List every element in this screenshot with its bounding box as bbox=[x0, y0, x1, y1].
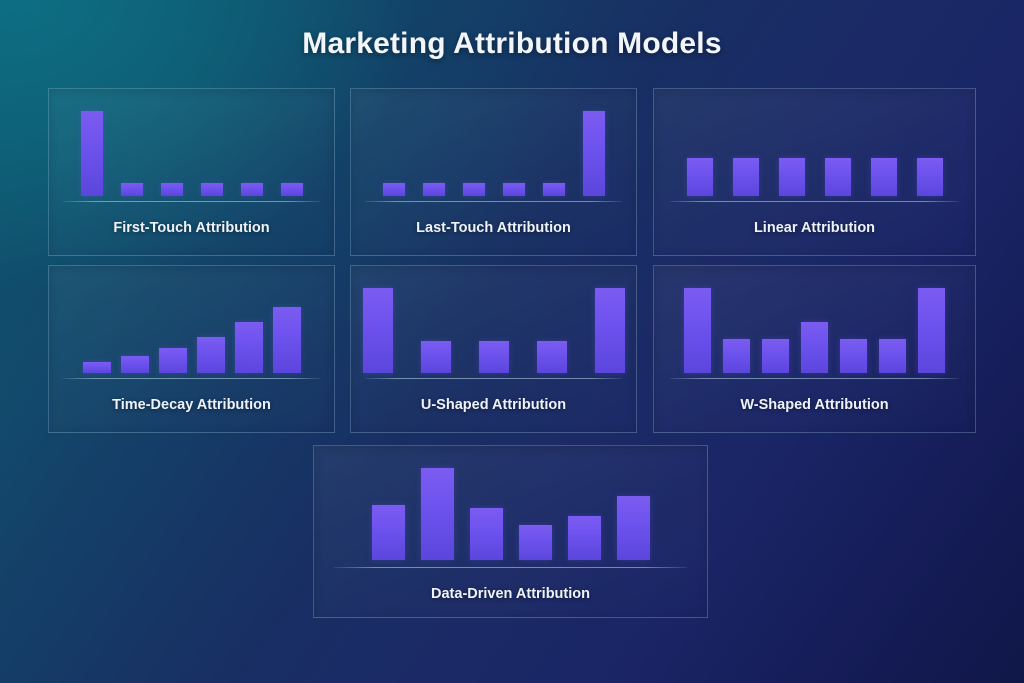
chart-bar bbox=[241, 183, 263, 196]
attribution-card-label: First-Touch Attribution bbox=[49, 220, 334, 236]
chart-baseline bbox=[670, 201, 959, 202]
bar-chart-plot bbox=[49, 288, 334, 373]
chart-baseline bbox=[670, 378, 959, 379]
chart-bar bbox=[235, 322, 263, 373]
chart-bar bbox=[383, 183, 405, 196]
chart-bar bbox=[479, 341, 509, 373]
chart-bar bbox=[197, 337, 225, 373]
bar-chart-plot bbox=[654, 111, 975, 196]
attribution-card[interactable]: First-Touch Attribution bbox=[48, 88, 335, 256]
chart-baseline bbox=[334, 567, 687, 568]
chart-bar bbox=[121, 183, 143, 196]
chart-bar bbox=[281, 183, 303, 196]
chart-bar bbox=[801, 322, 828, 373]
attribution-card[interactable]: Time-Decay Attribution bbox=[48, 265, 335, 433]
chart-bar bbox=[83, 362, 111, 373]
chart-bar bbox=[81, 111, 103, 196]
bar-chart-plot bbox=[314, 468, 707, 560]
poster-canvas: Marketing Attribution Models First-Touch… bbox=[0, 0, 1024, 683]
chart-bar bbox=[503, 183, 525, 196]
chart-bar bbox=[421, 341, 451, 373]
bar-chart-plot bbox=[49, 111, 334, 196]
chart-bar bbox=[879, 339, 906, 373]
chart-bar bbox=[363, 288, 393, 373]
chart-bar bbox=[121, 356, 149, 373]
chart-bar bbox=[687, 158, 713, 196]
chart-bar bbox=[161, 183, 183, 196]
bar-chart-plot bbox=[654, 288, 975, 373]
page-title: Marketing Attribution Models bbox=[0, 27, 1024, 61]
chart-bar bbox=[840, 339, 867, 373]
chart-bar bbox=[421, 468, 454, 560]
chart-baseline bbox=[365, 378, 622, 379]
attribution-card[interactable]: Linear Attribution bbox=[653, 88, 976, 256]
chart-bar bbox=[779, 158, 805, 196]
chart-bar bbox=[684, 288, 711, 373]
attribution-card-label: Data-Driven Attribution bbox=[314, 586, 707, 602]
chart-bar bbox=[617, 496, 650, 560]
chart-baseline bbox=[63, 378, 320, 379]
chart-bar bbox=[918, 288, 945, 373]
chart-bar bbox=[423, 183, 445, 196]
attribution-card-label: Time-Decay Attribution bbox=[49, 397, 334, 413]
chart-bar bbox=[723, 339, 750, 373]
bar-chart-plot bbox=[351, 288, 636, 373]
chart-bar bbox=[568, 516, 601, 560]
attribution-card[interactable]: W-Shaped Attribution bbox=[653, 265, 976, 433]
chart-bar bbox=[825, 158, 851, 196]
chart-bar bbox=[733, 158, 759, 196]
chart-bar bbox=[537, 341, 567, 373]
attribution-card[interactable]: U-Shaped Attribution bbox=[350, 265, 637, 433]
attribution-card-label: U-Shaped Attribution bbox=[351, 397, 636, 413]
attribution-card[interactable]: Data-Driven Attribution bbox=[313, 445, 708, 618]
chart-bar bbox=[917, 158, 943, 196]
bar-chart-plot bbox=[351, 111, 636, 196]
chart-bar bbox=[372, 505, 405, 560]
attribution-card[interactable]: Last-Touch Attribution bbox=[350, 88, 637, 256]
attribution-card-label: W-Shaped Attribution bbox=[654, 397, 975, 413]
chart-bar bbox=[762, 339, 789, 373]
chart-bar bbox=[543, 183, 565, 196]
attribution-card-label: Linear Attribution bbox=[654, 220, 975, 236]
chart-baseline bbox=[63, 201, 320, 202]
chart-bar bbox=[470, 508, 503, 560]
chart-bar bbox=[273, 307, 301, 373]
chart-bar bbox=[871, 158, 897, 196]
chart-bar bbox=[463, 183, 485, 196]
chart-bar bbox=[201, 183, 223, 196]
chart-bar bbox=[519, 525, 552, 560]
attribution-card-label: Last-Touch Attribution bbox=[351, 220, 636, 236]
chart-bar bbox=[595, 288, 625, 373]
chart-bar bbox=[159, 348, 187, 374]
chart-baseline bbox=[365, 201, 622, 202]
chart-bar bbox=[583, 111, 605, 196]
